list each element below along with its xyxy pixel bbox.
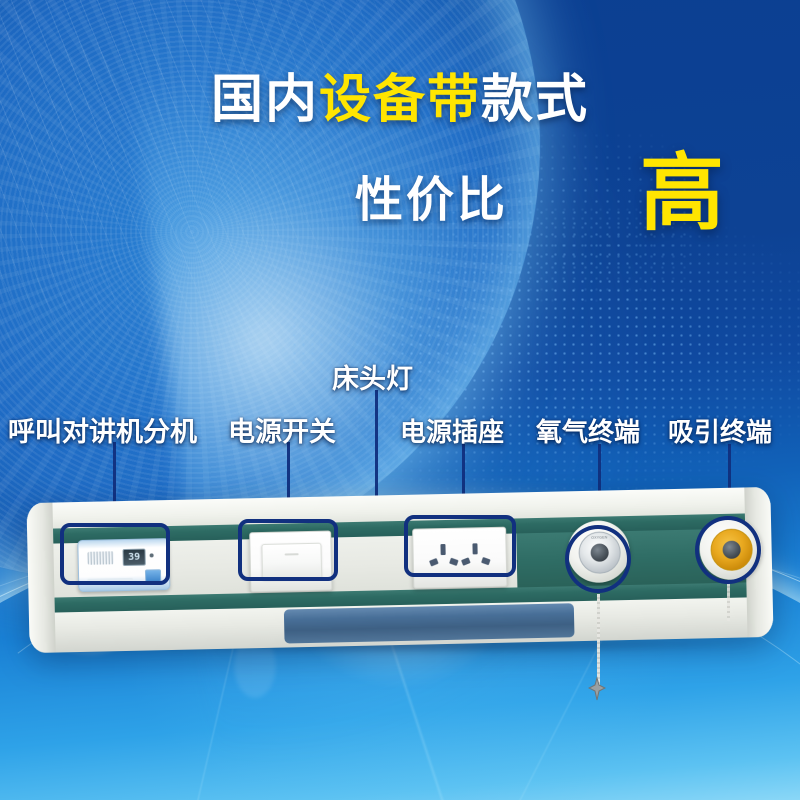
headline-line-1: 国内设备带款式 [0, 74, 800, 126]
suction-cord [727, 583, 730, 621]
oxygen-probe-icon [588, 676, 606, 702]
callout-label-3: 床头灯 [332, 357, 413, 396]
highlight-oxygen-terminal [565, 525, 631, 593]
callout-label-4: 电源插座 [400, 412, 504, 449]
headline-line-2: 性价比 高 [0, 146, 800, 226]
headline-text-part1: 国内 [211, 71, 319, 129]
callout-label-5: 氧气终端 [536, 412, 640, 449]
headline-text-part2: 款式 [481, 71, 589, 129]
callout-label-6: 吸引终端 [668, 412, 772, 449]
headline-block: 国内设备带款式 性价比 高 [0, 74, 800, 226]
highlight-intercom [60, 523, 170, 585]
headline-text-highlight: 设备带 [319, 71, 481, 129]
headline-emphasis: 高 [640, 126, 725, 247]
highlight-socket [404, 515, 516, 577]
promo-banner: 国内设备带款式 性价比 高 呼叫对讲机分机电源开关床头灯电源插座氧气终端吸引终端… [0, 0, 800, 800]
headline-subtext: 性价比 [355, 160, 508, 230]
callout-label-1: 呼叫对讲机分机 [8, 410, 197, 449]
dot-world-map [290, 205, 800, 505]
panel-end-cap-left [26, 503, 55, 654]
highlight-suction-terminal [695, 516, 761, 584]
callout-label-2: 电源开关 [228, 410, 336, 449]
oxygen-cord [597, 594, 600, 686]
highlight-switch [238, 519, 338, 581]
panel-blue-rail [284, 603, 575, 643]
